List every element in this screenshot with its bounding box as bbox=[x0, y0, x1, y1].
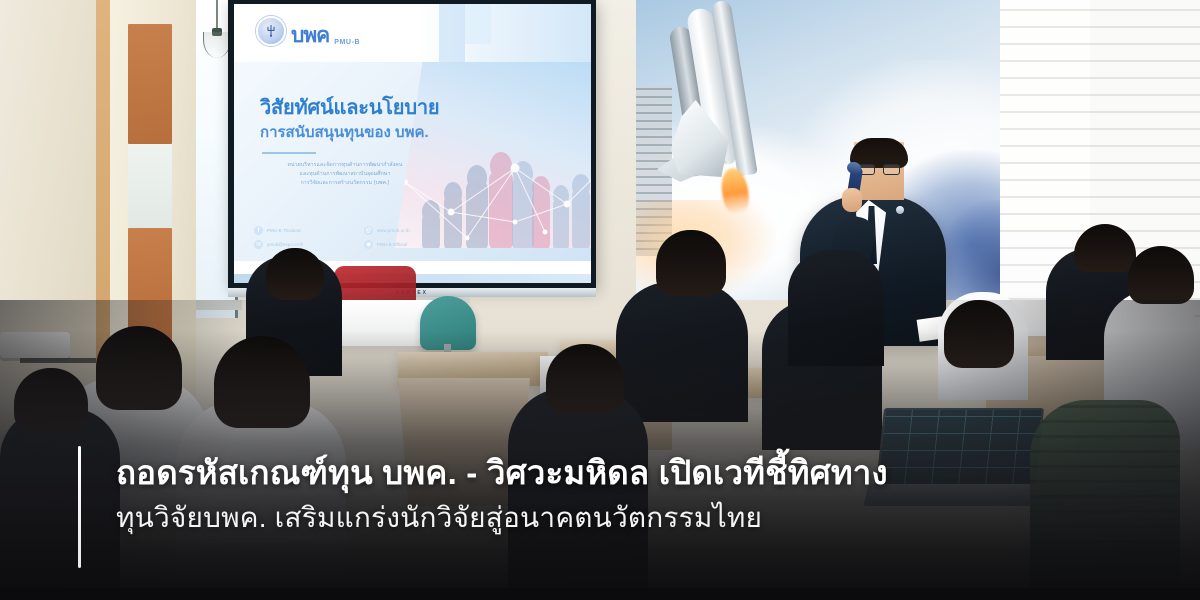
globe-icon: @ bbox=[364, 226, 373, 235]
slide-title-block: วิสัยทัศน์และนโยบาย การสนับสนุนทุนของ บพ… bbox=[260, 96, 440, 189]
slide-title-line2: การสนับสนุนทุนของ บพค. bbox=[260, 123, 440, 143]
contact-website: @ www.pmub.or.th bbox=[364, 226, 466, 235]
audience-hair bbox=[1128, 246, 1194, 304]
slide-description-line1: หน่วยบริหารและจัดการทุนด้านการพัฒนากำลัง… bbox=[260, 161, 430, 170]
title-block: ถอดรหัสเกณฑ์ทุน บพค. - วิศวะมหิดล เปิดเว… bbox=[116, 452, 1116, 536]
accent-bar bbox=[78, 446, 81, 568]
slide-contact-list: f PMU-B Thailand @ www.pmub.or.th ✉ pmub… bbox=[254, 226, 466, 249]
contact-text: PMU-B Thailand bbox=[267, 228, 301, 233]
presentation-screen: บพค PMU-B bbox=[228, 0, 596, 288]
white-wall-panel bbox=[128, 144, 172, 228]
slide-description-line2: และทุนด้านการพัฒนาสถาบันอุดมศึกษา bbox=[260, 170, 430, 179]
slide-header: บพค PMU-B bbox=[234, 4, 591, 62]
contact-instagram: ◉ PMU-B Official bbox=[364, 240, 466, 249]
bottom-bar bbox=[0, 588, 1200, 600]
audience-hair bbox=[266, 248, 324, 300]
speaker-lapel-pin bbox=[896, 206, 904, 214]
headline: ถอดรหัสเกณฑ์ทุน บพค. - วิศวะมหิดล เปิดเว… bbox=[116, 452, 1116, 494]
orange-wall-panel-top bbox=[128, 24, 172, 144]
news-banner: บพค PMU-B bbox=[0, 0, 1200, 600]
logo-english-mark: PMU-B bbox=[334, 39, 360, 46]
trident-emblem-icon bbox=[256, 16, 286, 46]
audience-hair bbox=[656, 230, 726, 296]
slide: บพค PMU-B bbox=[234, 4, 591, 283]
slide-description-line3: การวิจัยและการสร้างนวัตกรรม (บพค.) bbox=[260, 179, 430, 188]
speaker-hand bbox=[842, 188, 862, 212]
logo-thai-mark: บพค bbox=[291, 25, 329, 46]
instagram-icon: ◉ bbox=[364, 240, 373, 249]
slide-title-rule bbox=[262, 152, 316, 154]
contact-text: pmub@nxpo.or.th bbox=[267, 242, 303, 247]
subheadline: ทุนวิจัยบพค. เสริมแกร่งนักวิจัยสู่อนาคตน… bbox=[116, 500, 1116, 536]
contact-facebook: f PMU-B Thailand bbox=[254, 226, 356, 235]
slide-title-line1: วิสัยทัศน์และนโยบาย bbox=[260, 96, 440, 121]
facebook-icon: f bbox=[254, 226, 263, 235]
email-icon: ✉ bbox=[254, 240, 263, 249]
contact-email: ✉ pmub@nxpo.or.th bbox=[254, 240, 356, 249]
slide-header-square bbox=[439, 4, 465, 62]
eyeglasses-icon bbox=[858, 164, 900, 175]
slide-header-square bbox=[465, 4, 491, 44]
pmub-logo: บพค PMU-B bbox=[256, 16, 360, 46]
contact-text: PMU-B Official bbox=[377, 242, 407, 247]
contact-text: www.pmub.or.th bbox=[377, 228, 410, 233]
